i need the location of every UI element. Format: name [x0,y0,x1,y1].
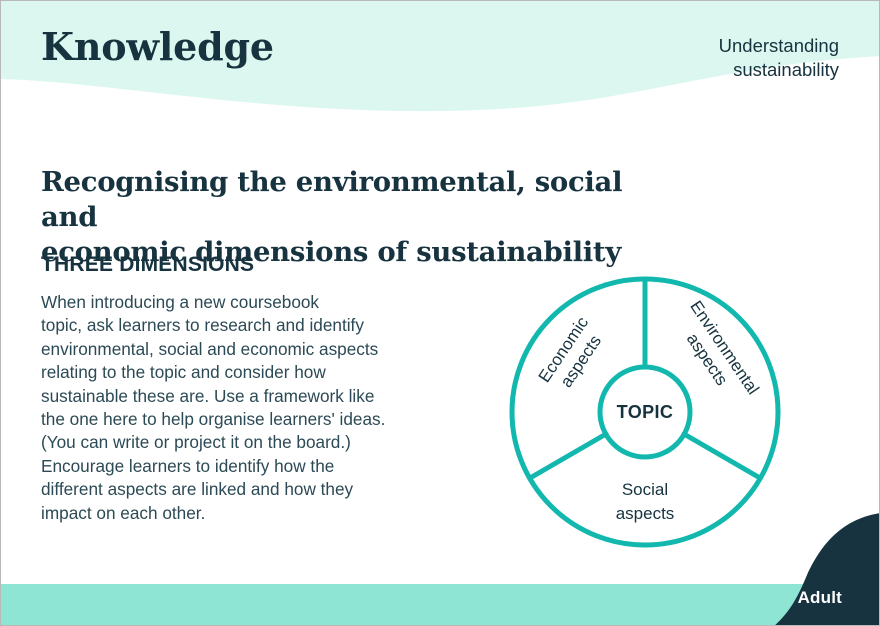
page-title: Knowledge [41,28,274,66]
body-line: (You can write or project it on the boar… [41,431,441,454]
body-line: relating to the topic and consider how [41,361,441,384]
body-line: Encourage learners to identify how the [41,455,441,478]
body-line: different aspects are linked and how the… [41,478,441,501]
diagram-label-social-line-1: Social [622,480,668,499]
body-paragraph: When introducing a new coursebook topic,… [41,291,441,525]
body-line: impact on each other. [41,502,441,525]
body-line: environmental, social and economic aspec… [41,338,441,361]
slide-canvas: Knowledge Understanding sustainability R… [0,0,880,626]
audience-tag: Adult [798,588,842,608]
header-kicker-line-1: Understanding [549,34,839,58]
body-line: the one here to help organise learners' … [41,408,441,431]
section-heading-line-1: Recognising the environmental, social an… [41,165,681,235]
header-kicker: Understanding sustainability [549,34,839,82]
header-kicker-line-2: sustainability [549,58,839,82]
diagram-divider-left [530,434,606,478]
body-line: sustainable these are. Use a framework l… [41,385,441,408]
body-line: When introducing a new coursebook [41,291,441,314]
subheading: THREE DIMENSIONS [41,253,254,277]
diagram-label-social: Social aspects [616,480,675,523]
diagram-center-label: TOPIC [617,402,674,422]
three-dimensions-diagram: Economic aspects Environmental aspects S… [501,266,793,560]
diagram-divider-right [684,434,760,478]
diagram-label-social-line-2: aspects [616,504,675,523]
body-line: topic, ask learners to research and iden… [41,314,441,337]
